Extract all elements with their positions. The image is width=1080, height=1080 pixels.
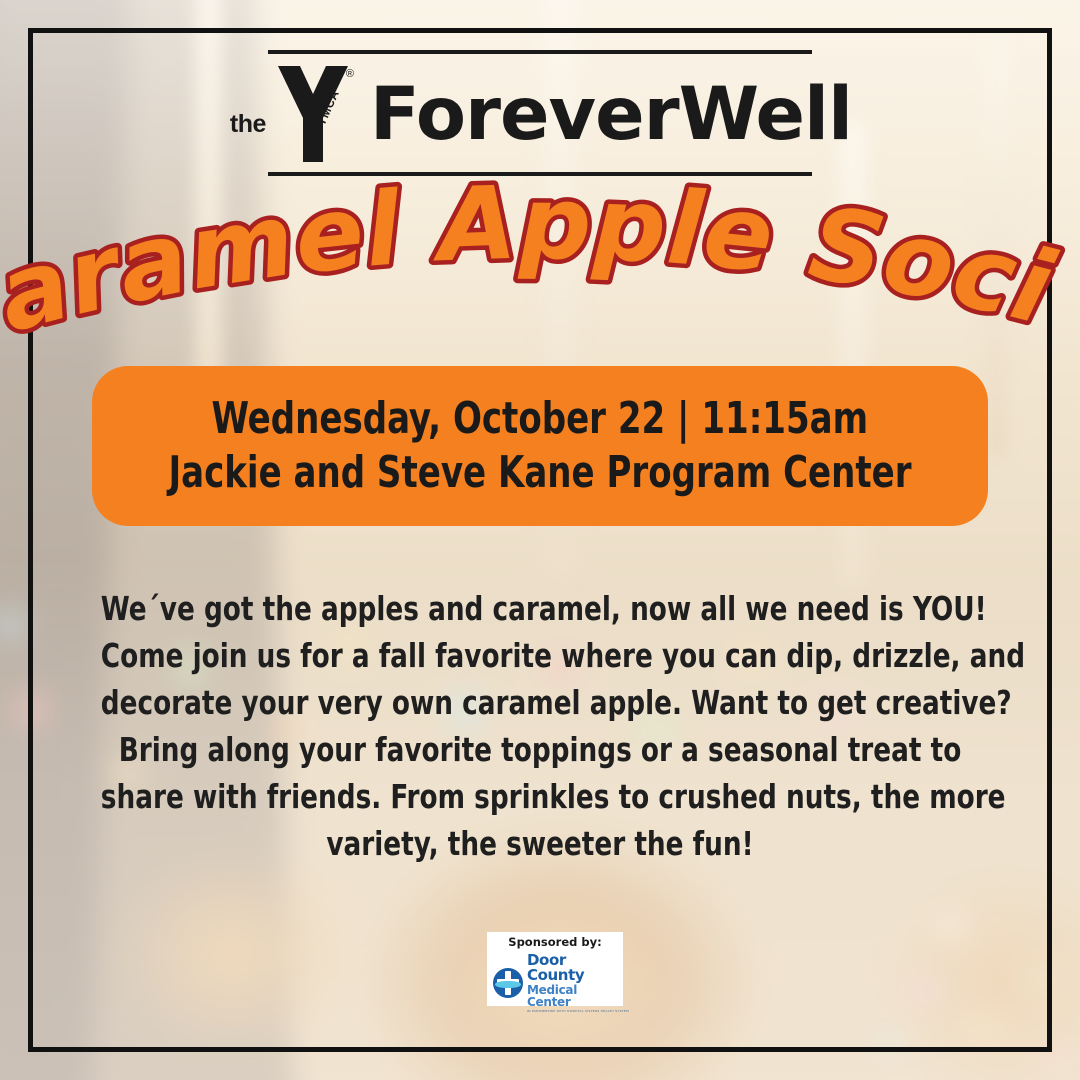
- event-description: We´ve got the apples and caramel, now al…: [52, 586, 1028, 868]
- ymca-logo: the ® YMCA: [228, 62, 356, 166]
- description-line: We´ve got the apples and caramel, now al…: [101, 586, 979, 633]
- wave-icon: [495, 981, 521, 988]
- program-name: ForeverWell: [370, 78, 852, 151]
- description-line: share with friends. From sprinkles to cr…: [101, 774, 979, 821]
- event-details-banner: Wednesday, October 22 | 11:15am Jackie a…: [92, 366, 988, 526]
- sponsor-label: Sponsored by:: [508, 936, 601, 950]
- description-line: variety, the sweeter the fun!: [101, 821, 979, 868]
- sponsor-box: Sponsored by: Door County Medical Center…: [487, 932, 623, 1006]
- ymca-the-label: the: [230, 110, 266, 139]
- header-rule-top: [268, 50, 812, 54]
- sponsor-tagline: IN PARTNERSHIP WITH HOSPITAL SISTERS HEA…: [527, 1010, 631, 1013]
- event-datetime: Wednesday, October 22 | 11:15am: [212, 396, 869, 442]
- event-location: Jackie and Steve Kane Program Center: [168, 450, 911, 496]
- medical-cross-circle-icon: [493, 968, 523, 998]
- sponsor-name-line1: Door County: [527, 953, 617, 983]
- sponsor-name: Door County Medical Center IN PARTNERSHI…: [527, 953, 617, 1013]
- ymca-y-icon: [276, 64, 350, 169]
- sponsor-name-line2: Medical Center: [527, 984, 617, 1008]
- description-line: Come join us for a fall favorite where y…: [101, 633, 979, 680]
- sponsor-logo: Door County Medical Center IN PARTNERSHI…: [493, 953, 617, 1013]
- registered-trademark-icon: ®: [346, 68, 354, 80]
- description-line: decorate your very own caramel apple. Wa…: [101, 680, 979, 727]
- description-line: Bring along your favorite toppings or a …: [101, 727, 979, 774]
- flyer-content: the ® YMCA ForeverWell Caramel Apple Soc…: [0, 0, 1080, 1080]
- header-lockup: the ® YMCA ForeverWell: [0, 62, 1080, 166]
- event-title: Caramel Apple Social: [0, 196, 1080, 336]
- flyer: the ® YMCA ForeverWell Caramel Apple Soc…: [0, 0, 1080, 1080]
